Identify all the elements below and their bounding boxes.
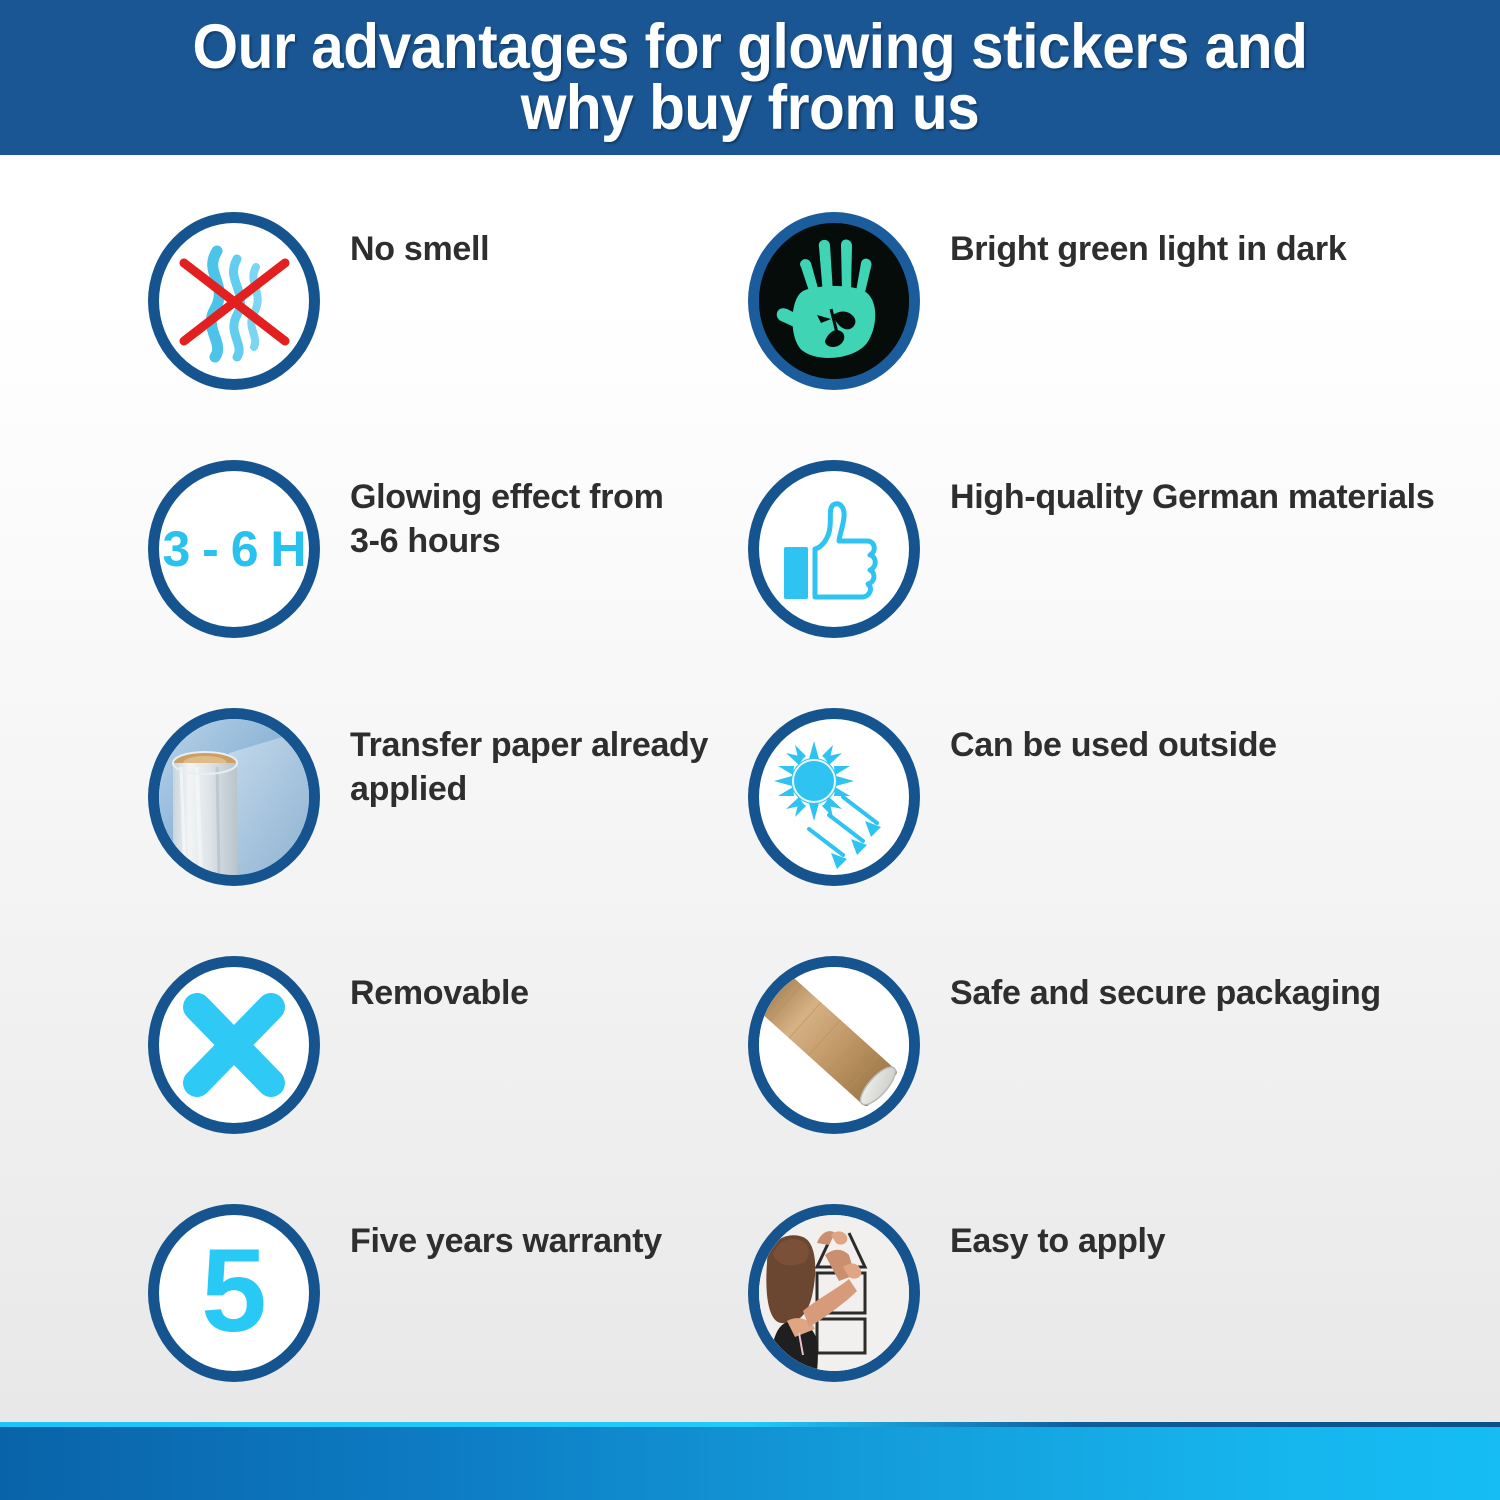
feature-label-line-1: Transfer paper already <box>350 726 708 764</box>
feature-transfer-paper[interactable]: Transfer paper already applied <box>148 708 708 886</box>
feature-german-materials[interactable]: High-quality German materials <box>748 460 1434 638</box>
feature-label: No smell <box>350 228 489 272</box>
transfer-paper-photo-icon <box>148 708 320 886</box>
feature-label: Removable <box>350 972 529 1016</box>
feature-easy-to-apply[interactable]: Easy to apply <box>748 1204 1165 1382</box>
feature-label: Glowing effect from 3-6 hours <box>350 476 664 563</box>
number-five-icon: 5 <box>148 1204 320 1382</box>
transfer-roll-photo <box>159 719 309 875</box>
thumbs-up-shape-icon <box>759 471 909 627</box>
no-smell-icon <box>148 212 320 390</box>
feature-glowing-effect-hours[interactable]: 3 - 6 H Glowing effect from 3-6 hours <box>148 460 664 638</box>
feature-label: Easy to apply <box>950 1220 1165 1264</box>
page-title: Our advantages for glowing stickers and … <box>80 17 1419 138</box>
sun-rays-icon <box>748 708 920 886</box>
feature-five-years-warranty[interactable]: 5 Five years warranty <box>148 1204 662 1382</box>
feature-label: Five years warranty <box>350 1220 662 1264</box>
sun-with-arrows-icon <box>759 719 909 875</box>
feature-label-line-2: applied <box>350 770 467 808</box>
page-title-line-2: why buy from us <box>521 73 980 143</box>
thumbs-up-icon <box>748 460 920 638</box>
hours-badge-icon: 3 - 6 H <box>148 460 320 638</box>
feature-label: Safe and secure packaging <box>950 972 1381 1016</box>
feature-no-smell[interactable]: No smell <box>148 212 489 390</box>
feature-label: Transfer paper already applied <box>350 724 708 811</box>
number-five-text: 5 <box>159 1215 309 1371</box>
feature-bright-green-light[interactable]: Bright green light in dark <box>748 212 1346 390</box>
hours-badge-text: 3 - 6 H <box>159 471 309 627</box>
feature-label: High-quality German materials <box>950 476 1434 520</box>
mailing-tube-photo-icon <box>748 956 920 1134</box>
woman-applying-photo <box>759 1215 909 1371</box>
x-mark-shape-icon <box>159 967 309 1123</box>
feature-label-line-2: 3-6 hours <box>350 522 500 560</box>
mailing-tube-photo <box>759 967 909 1123</box>
red-cross-out-icon <box>159 223 309 379</box>
features-grid: No smell <box>0 155 1500 1420</box>
glowing-handprint-icon <box>748 212 920 390</box>
feature-label: Bright green light in dark <box>950 228 1346 272</box>
footer-banner <box>0 1427 1500 1500</box>
feature-removable[interactable]: Removable <box>148 956 529 1134</box>
feature-used-outside[interactable]: Can be used outside <box>748 708 1277 886</box>
header-banner: Our advantages for glowing stickers and … <box>0 0 1500 155</box>
cross-x-icon <box>148 956 320 1134</box>
feature-label: Can be used outside <box>950 724 1277 768</box>
woman-applying-sticker-photo-icon <box>748 1204 920 1382</box>
handprint-shape-icon <box>759 223 909 379</box>
feature-secure-packaging[interactable]: Safe and secure packaging <box>748 956 1381 1134</box>
feature-label-line-1: Glowing effect from <box>350 478 664 516</box>
